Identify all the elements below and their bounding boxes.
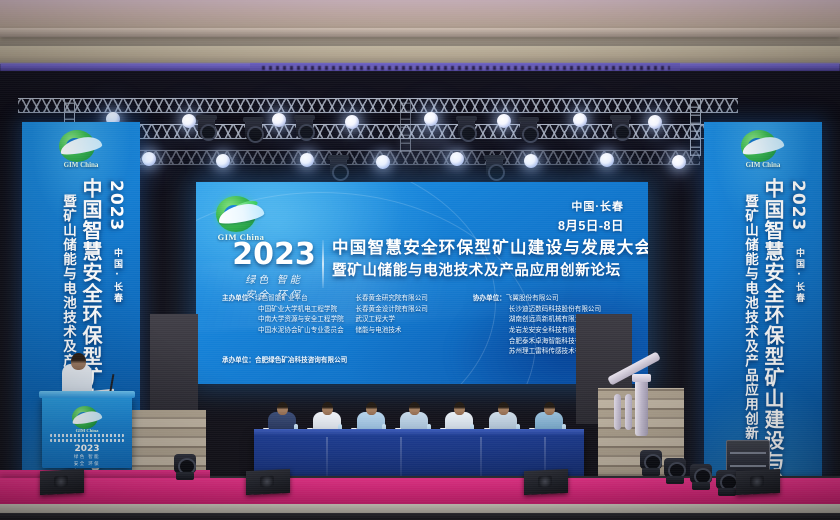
organizer-row: 长春黄金设计院有限公司: [355, 305, 472, 316]
light-head: [640, 450, 662, 469]
spotlight-icon: [345, 115, 359, 129]
spotlight-icon: [182, 114, 196, 128]
floor-moving-head-light-icon: [716, 470, 738, 496]
spotlight-icon: [376, 155, 390, 169]
podium-year: 2023: [42, 444, 132, 454]
logo-wordmark: GIM China: [733, 161, 793, 169]
spotlight-icon: [497, 114, 511, 128]
stage-monitor-speaker: [246, 469, 290, 495]
panelist-head: [544, 402, 555, 415]
panelist-head: [409, 402, 420, 415]
moving-head-light-icon: [486, 158, 503, 178]
ceiling-lip: [0, 28, 840, 37]
balustrade-baluster: [614, 394, 621, 430]
spotlight-icon: [216, 154, 230, 168]
panelist-head: [366, 402, 377, 415]
vertical-banner-right: GIM China 2023 中国·长春 中国智慧安全环保型矿山建设与发展大会 …: [704, 122, 822, 480]
podium-calligraphy-line-2: 安全 环保: [42, 461, 132, 468]
organizer-label: 主办单位：: [222, 295, 255, 302]
speaker-podium: GIM China 2023 绿色 智能 安全 环保: [42, 396, 132, 468]
gim-china-logo-icon: GIM China: [51, 130, 111, 174]
logo-wordmark: GIM China: [66, 428, 108, 433]
moving-head-light-icon: [296, 118, 313, 138]
podium-title-line-2: [50, 439, 124, 442]
co-organizer-item: 飞翼股份有限公司: [506, 295, 559, 302]
floor-moving-head-light-icon: [664, 458, 686, 484]
organizer-row: 中南大学资源与安全工程学院: [222, 315, 355, 326]
spotlight-icon: [424, 112, 438, 126]
light-base: [176, 472, 194, 480]
floor-moving-head-light-icon: [690, 464, 712, 490]
stone-balustrade: [610, 364, 656, 436]
gim-china-logo-icon: GIM China: [733, 130, 793, 174]
lighting-truss-upper: [18, 98, 738, 113]
conference-sub-title: 暨矿山储能与电池技术及产品应用创新论坛: [332, 263, 638, 280]
banner-right-place: 中国·长春: [793, 248, 806, 304]
screen-title-block: 中国智慧安全环保型矿山建设与发展大会 暨矿山储能与电池技术及产品应用创新论坛: [332, 239, 638, 280]
spotlight-icon: [648, 115, 662, 129]
panelist-head: [277, 402, 288, 415]
stage-front-shadow: [0, 513, 840, 520]
ceiling-beam: [0, 46, 840, 64]
calligraphy-line-1: 绿色 智能: [232, 274, 316, 289]
organizer-row: 中国水泥协会矿山专业委员会: [222, 326, 355, 337]
moving-head-light-icon: [330, 158, 347, 178]
moving-head-light-icon: [245, 120, 262, 140]
organizer-row: 武汉工程大学: [355, 315, 472, 326]
spotlight-icon: [300, 153, 314, 167]
gim-china-logo-icon: GIM China: [66, 406, 108, 436]
light-head: [174, 454, 196, 473]
floor-moving-head-light-icon: [640, 450, 662, 476]
moving-head-light-icon: [612, 118, 629, 138]
spotlight-icon: [600, 153, 614, 167]
panelist-head: [498, 402, 509, 415]
light-base: [642, 468, 660, 476]
banner-right-sub-title: 暨矿山储能与电池技术及产品应用创新论坛: [740, 194, 760, 470]
screen-year: 2023: [232, 240, 316, 270]
organizer-row: 储能与电池技术: [355, 326, 472, 337]
organizer-row: 主办单位：绿色智能矿业平台: [222, 294, 355, 305]
truss-vertical-mid: [400, 98, 411, 152]
stage-left-wall: [150, 314, 198, 410]
spotlight-icon: [450, 152, 464, 166]
conference-main-title: 中国智慧安全环保型矿山建设与发展大会: [332, 239, 638, 258]
spotlight-icon: [524, 154, 538, 168]
screen-title-divider: [322, 240, 324, 288]
balustrade-newel-post: [635, 380, 648, 436]
co-organizer-label: 协办单位：: [473, 295, 506, 302]
podium-calligraphy: 绿色 智能 安全 环保: [42, 454, 132, 467]
balustrade-baluster: [625, 394, 632, 430]
spotlight-icon: [142, 152, 156, 166]
podium-top-surface: [39, 391, 135, 398]
speaker-head: [71, 353, 86, 370]
stage-photograph: GIM China 中国·长春 8月5日-8日 2023 绿色 智能 安全 环保…: [0, 0, 840, 520]
podium-calligraphy-line-1: 绿色 智能: [42, 454, 132, 461]
spotlight-icon: [672, 155, 686, 169]
organizer-row: 长春黄金研究院有限公司: [355, 294, 472, 305]
screen-date-label: 8月5日-8日: [558, 215, 624, 234]
floor-moving-head-light-icon: [174, 454, 196, 480]
organizer-column-1: 主办单位：绿色智能矿业平台 中国矿业大学机电工程学院 中南大学资源与安全工程学院…: [204, 294, 355, 358]
light-base: [718, 488, 736, 496]
logo-wordmark: GIM China: [51, 161, 111, 169]
organizer-column-2: 长春黄金研究院有限公司 长春黄金设计院有限公司 武汉工程大学 储能与电池技术: [355, 294, 472, 358]
host-label: 承办单位：: [222, 357, 255, 364]
co-organizer-row: 协办单位：飞翼股份有限公司: [473, 294, 642, 305]
organizer-row: 中国矿业大学机电工程学院: [222, 305, 355, 316]
panelist-head: [322, 402, 333, 415]
host-value: 合肥绿色矿冶科技咨询有限公司: [255, 357, 347, 364]
spotlight-icon: [272, 113, 286, 127]
light-head: [716, 470, 738, 489]
podium-title-line-1: [50, 434, 124, 437]
organizer-item: 绿色智能矿业平台: [255, 295, 308, 302]
light-base: [692, 482, 710, 490]
stage-monitor-speaker: [40, 469, 84, 495]
light-base: [666, 476, 684, 484]
truss-vertical-right: [690, 98, 701, 156]
light-head: [690, 464, 712, 483]
moving-head-light-icon: [520, 120, 537, 140]
light-head: [664, 458, 686, 477]
pink-stage-carpet: [0, 478, 840, 504]
moving-head-light-icon: [198, 118, 215, 138]
panelist-head: [454, 402, 465, 415]
banner-left-year: 2023: [106, 180, 126, 231]
stage-monitor-speaker: [736, 469, 780, 495]
spotlight-icon: [573, 113, 587, 127]
stage-monitor-speaker: [524, 469, 568, 495]
banner-right-main-title: 中国智慧安全环保型矿山建设与发展大会: [759, 178, 788, 480]
banner-right-year: 2023: [788, 180, 808, 231]
host-unit-row: 承办单位：合肥绿色矿冶科技咨询有限公司: [222, 354, 347, 364]
venue-ceiling: [0, 0, 840, 46]
screen-place-label: 中国·长春: [571, 198, 624, 214]
banner-left-place: 中国·长春: [111, 248, 124, 304]
moving-head-light-icon: [458, 119, 475, 139]
